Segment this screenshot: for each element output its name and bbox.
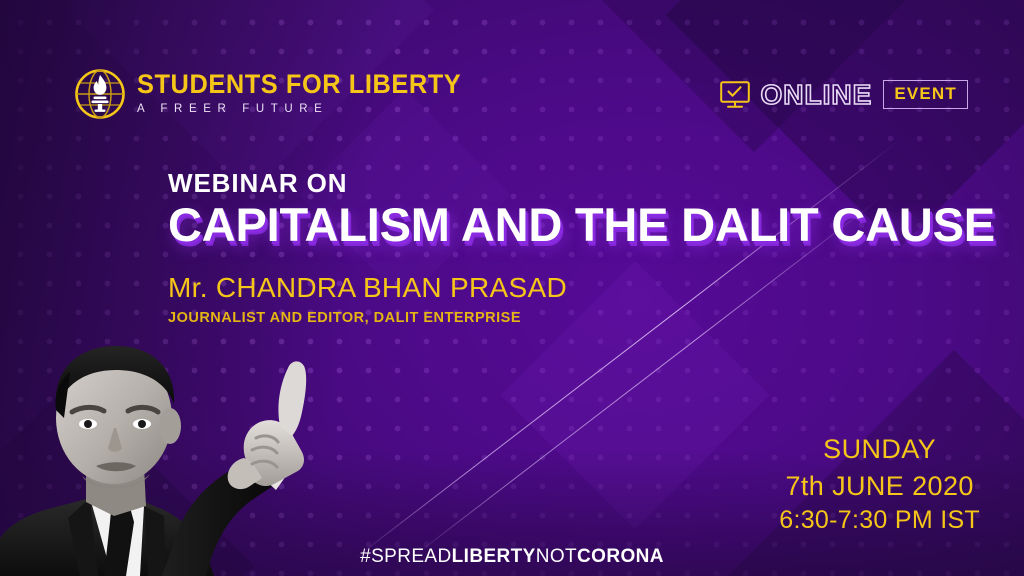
brand-name: STUDENTS FOR LIBERTY xyxy=(137,71,461,99)
eyebrow-label: WEBINAR ON xyxy=(168,170,995,197)
schedule-date: 7th JUNE 2020 xyxy=(779,468,980,504)
schedule-day: SUNDAY xyxy=(779,431,980,467)
online-label: ONLINE xyxy=(761,81,873,109)
hashtag-part-3: NOT xyxy=(536,546,577,567)
event-label: EVENT xyxy=(894,84,957,103)
brand-tagline: A FREER FUTURE xyxy=(137,102,482,117)
decorative-diamond-bottom-left xyxy=(0,382,254,576)
hashtag-part-4: CORONA xyxy=(577,546,664,567)
speaker-name: Mr. CHANDRA BHAN PRASAD xyxy=(168,273,995,304)
brand-logo: STUDENTS FOR LIBERTY A FREER FUTURE xyxy=(74,68,482,120)
main-content: WEBINAR ON CAPITALISM AND THE DALIT CAUS… xyxy=(168,170,995,327)
schedule-block: SUNDAY 7th JUNE 2020 6:30-7:30 PM IST xyxy=(779,431,980,538)
monitor-check-icon xyxy=(720,81,750,109)
schedule-time: 6:30-7:30 PM IST xyxy=(779,504,980,538)
hashtag-part-1: #SPREAD xyxy=(360,546,452,567)
speaker-portrait-pointing xyxy=(0,340,344,576)
webinar-poster: STUDENTS FOR LIBERTY A FREER FUTURE ONLI… xyxy=(0,0,1024,576)
decorative-diamond-top-right-2 xyxy=(542,0,966,152)
speaker-role: JOURNALIST AND EDITOR, DALIT ENTERPRISE xyxy=(168,311,995,327)
campaign-hashtag: #SPREADLIBERTYNOTCORONA xyxy=(360,546,664,568)
globe-torch-icon xyxy=(74,68,126,120)
hashtag-part-2: LIBERTY xyxy=(452,546,536,567)
event-label-box: EVENT xyxy=(883,80,968,109)
online-event-badge: ONLINE EVENT xyxy=(720,80,968,109)
page-title: CAPITALISM AND THE DALIT CAUSE xyxy=(168,199,995,251)
